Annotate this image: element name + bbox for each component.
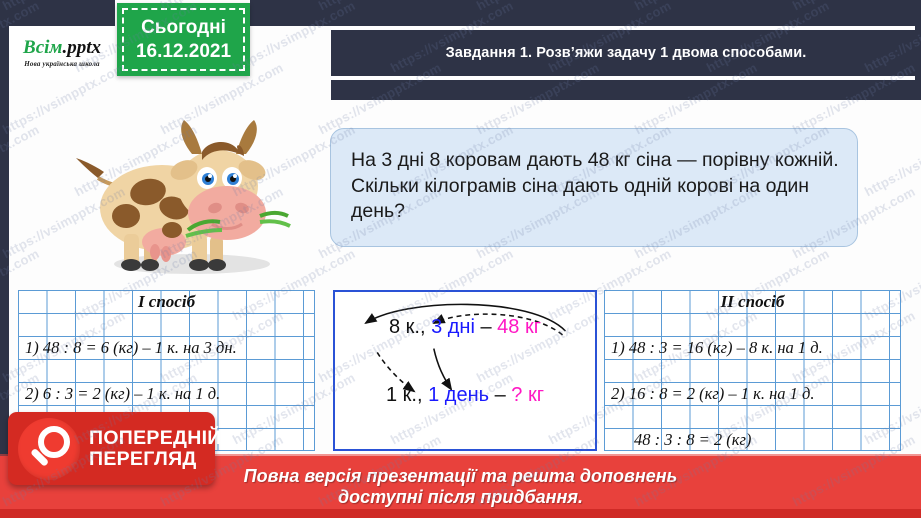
- logo-title-suffix: .pptx: [62, 37, 101, 58]
- banner-line-1: Повна версія презентації та решта доповн…: [244, 466, 678, 487]
- diagram-line1-value: 48 кг: [497, 316, 541, 338]
- diagram-line2-dash: –: [489, 384, 511, 406]
- left-table-row-2: 2) 6 : 3 = 2 (кг) – 1 к. на 1 д.: [18, 382, 322, 405]
- logo-title-prefix: Всім: [23, 37, 62, 58]
- right-table-title: ІІ спосіб: [604, 290, 901, 313]
- today-label: Сьогодні: [141, 16, 226, 40]
- right-table-row-1: 1) 48 : 3 = 16 (кг) – 8 к. на 1 д.: [604, 336, 908, 359]
- left-table-title: І спосіб: [18, 290, 315, 313]
- frame-below-header: [331, 80, 921, 100]
- today-date-badge: Сьогодні 16.12.2021: [117, 3, 250, 76]
- logo-title: Всім.pptx: [23, 38, 101, 57]
- today-date: 16.12.2021: [136, 40, 231, 64]
- diagram-line1-part1: 8 к.,: [389, 316, 431, 338]
- diagram-line1-highlight: 3 дні: [431, 316, 475, 338]
- short-notation-diagram: 8 к., 3 дні – 48 кг 1 к., 1 день – ? кг: [333, 290, 597, 451]
- logo: Всім.pptx Нова українська школа: [9, 26, 115, 80]
- problem-text: На 3 дні 8 коровам дають 48 кг сіна — по…: [351, 148, 839, 226]
- banner-line-2: доступні після придбання.: [338, 487, 583, 508]
- frame-top-left: [0, 0, 115, 26]
- preview-badge[interactable]: ПОПЕРЕДНІЙ ПЕРЕГЛЯД: [8, 412, 215, 485]
- cow-illustration: [52, 112, 317, 282]
- preview-badge-text: ПОПЕРЕДНІЙ ПЕРЕГЛЯД: [89, 428, 222, 469]
- diagram-line1-dash: –: [475, 316, 497, 338]
- diagram-line-1: 8 к., 3 дні – 48 кг: [335, 316, 595, 339]
- solution-table-method-2: ІІ спосіб 1) 48 : 3 = 16 (кг) – 8 к. на …: [604, 290, 901, 451]
- right-table-row-2: 2) 16 : 8 = 2 (кг) – 1 к. на 1 д.: [604, 382, 908, 405]
- diagram-line2-part1: 1 к.,: [386, 384, 428, 406]
- slide-canvas: Всім.pptx Нова українська школа Сьогодні…: [0, 0, 921, 518]
- frame-right-edge: [915, 0, 921, 100]
- magnifier-icon: [18, 418, 80, 480]
- diagram-line-2: 1 к., 1 день – ? кг: [335, 384, 595, 407]
- right-table-rows: ІІ спосіб 1) 48 : 3 = 16 (кг) – 8 к. на …: [604, 290, 901, 451]
- page-title: Завдання 1. Розв’яжи задачу 1 двома спос…: [446, 45, 807, 61]
- frame-top-bar: [250, 0, 921, 26]
- watermark-text: https://vsimpptx.com: [862, 122, 921, 199]
- problem-statement-box: На 3 дні 8 коровам дають 48 кг сіна — по…: [330, 128, 858, 247]
- preview-badge-line-2: ПЕРЕГЛЯД: [89, 449, 222, 469]
- header-bar: Завдання 1. Розв’яжи задачу 1 двома спос…: [331, 26, 921, 80]
- preview-badge-line-1: ПОПЕРЕДНІЙ: [89, 428, 222, 448]
- diagram-line2-highlight: 1 день: [428, 384, 489, 406]
- diagram-line2-value: ? кг: [511, 384, 544, 406]
- logo-subtitle: Нова українська школа: [24, 60, 99, 68]
- left-table-row-1: 1) 48 : 8 = 6 (кг) – 1 к. на 3 дн.: [18, 336, 322, 359]
- right-table-row-3: 48 : 3 : 8 = 2 (кг): [604, 428, 921, 451]
